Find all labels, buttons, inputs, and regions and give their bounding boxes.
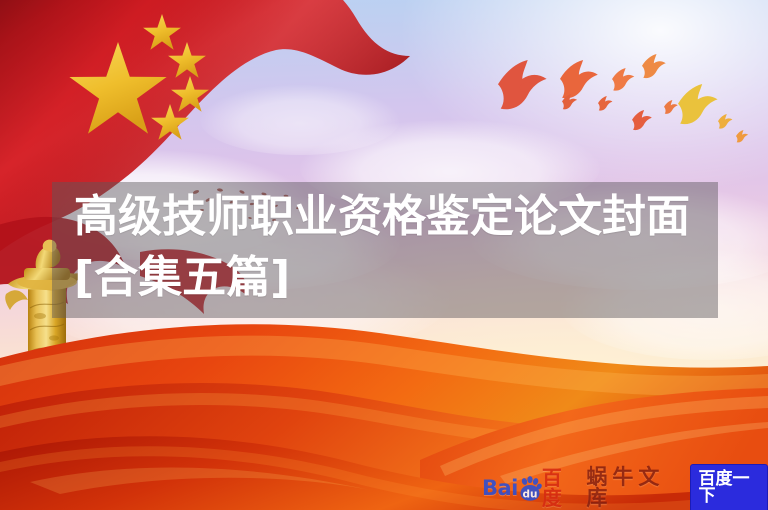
baidu-search-button[interactable]: 百度一下 [690, 464, 768, 510]
flying-birds-graphic [480, 42, 768, 167]
cover-image-canvas: 高级技师职业资格鉴定论文封面[合集五篇] Bai du 百度 蜗牛文库 百度一下 [0, 0, 768, 510]
watermark-bar: Bai du 百度 蜗牛文库 百度一下 [482, 472, 768, 504]
baidu-latin-text: Bai [482, 478, 518, 499]
birds-flock-icon [480, 42, 768, 167]
baidu-chinese-text: 百度 [542, 468, 572, 508]
site-name-watermark: 蜗牛文库 [586, 467, 680, 509]
baidu-paw-label: du [522, 488, 537, 500]
page-title: 高级技师职业资格鉴定论文封面[合集五篇] [52, 186, 718, 308]
baidu-paw-icon: du [517, 476, 543, 501]
bird-shape [498, 54, 748, 142]
baidu-logo[interactable]: Bai du 百度 [482, 468, 572, 508]
